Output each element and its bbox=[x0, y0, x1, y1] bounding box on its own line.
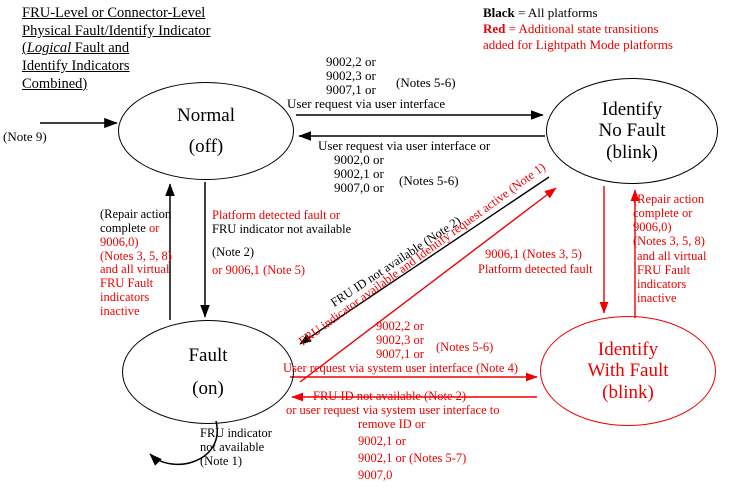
label-identify-withfault-to-fault-l3: remove ID or bbox=[358, 418, 425, 431]
label-fault-to-identify-withfault-l2: 9002,3 or bbox=[376, 334, 424, 347]
label-identify-to-normal-l4: 9007,0 or bbox=[334, 181, 384, 195]
label-normal-to-identify-l1: 9002,2 or bbox=[326, 55, 376, 69]
legend-red-key: Red bbox=[483, 21, 505, 36]
label-fault-to-normal-l2: complete or bbox=[100, 222, 159, 235]
state-identify-with-fault-line-3: (blink) bbox=[602, 382, 654, 403]
label-normal-to-fault-l3: (Note 2) bbox=[212, 246, 254, 259]
legend-red-text-2: added for Lightpath Mode platforms bbox=[483, 37, 673, 53]
label-normal-to-identify-l4: User request via user interface bbox=[287, 97, 445, 111]
label-identify-withfault-to-nofault-l1: (Repair action bbox=[633, 193, 704, 206]
state-fault-label: Fault bbox=[188, 345, 227, 367]
label-identify-nofault-to-withfault-l2: Platform detected fault bbox=[478, 263, 593, 276]
label-normal-to-identify-l2: 9002,3 or bbox=[326, 69, 376, 83]
label-identify-to-normal-l2: 9002,0 or bbox=[334, 153, 384, 167]
title-line-3-italic: Logical bbox=[27, 40, 71, 56]
state-identify-no-fault[interactable]: Identify No Fault (blink) bbox=[546, 78, 718, 184]
label-fault-to-identify-withfault-l4: User request via system user interface (… bbox=[283, 362, 518, 375]
state-identify-no-fault-line-3: (blink) bbox=[606, 142, 658, 163]
label-fault-to-normal-l2-red: or bbox=[149, 221, 159, 235]
label-normal-to-identify-l3: 9007,1 or bbox=[326, 83, 376, 97]
title-line-1: FRU-Level or Connector-Level bbox=[22, 5, 210, 23]
label-fault-to-normal-l1: (Repair action bbox=[100, 208, 171, 221]
label-fault-to-normal-l8: inactive bbox=[100, 305, 140, 318]
label-entry-note: (Note 9) bbox=[3, 130, 47, 144]
label-fault-to-normal-l5: and all virtual bbox=[100, 263, 169, 276]
label-fault-self-loop-l3: (Note 1) bbox=[200, 455, 242, 468]
label-identify-withfault-to-nofault-l4: (Notes 3, 5, 8) bbox=[633, 235, 705, 248]
label-identify-withfault-to-nofault-l7: indicators bbox=[637, 278, 686, 291]
label-fault-self-loop-l2: not available bbox=[200, 441, 264, 454]
label-normal-to-fault-l4: or 9006,1 (Note 5) bbox=[212, 264, 305, 277]
label-identify-withfault-to-nofault-l6: FRU Fault bbox=[637, 264, 690, 277]
label-fault-to-normal-l3: 9006,0) bbox=[100, 236, 139, 249]
label-normal-to-fault-l1: Platform detected fault or bbox=[212, 209, 340, 222]
legend-black-key: Black bbox=[483, 5, 515, 20]
page-title: FRU-Level or Connector-Level Physical Fa… bbox=[22, 5, 210, 93]
label-identify-withfault-to-nofault-l3: 9006,0) bbox=[633, 221, 672, 234]
state-normal-label: Normal bbox=[177, 105, 235, 127]
label-identify-withfault-to-fault-l5: 9002,1 or (Notes 5-7) bbox=[358, 452, 466, 465]
label-identify-withfault-to-fault-l2: or user request via system user interfac… bbox=[286, 404, 499, 417]
label-identify-withfault-to-fault-l6: 9007,0 bbox=[358, 469, 392, 482]
title-line-4: Identify Indicators bbox=[22, 58, 210, 76]
state-diagram: FRU-Level or Connector-Level Physical Fa… bbox=[0, 0, 742, 497]
label-fault-to-identify-withfault-l1: 9002,2 or bbox=[376, 320, 424, 333]
label-fault-to-normal-l2-black: complete bbox=[100, 221, 149, 235]
label-normal-to-identify-notes: (Notes 5-6) bbox=[396, 76, 456, 90]
label-identify-to-normal-notes: (Notes 5-6) bbox=[399, 174, 459, 188]
label-identify-withfault-to-nofault-l2: complete or bbox=[633, 207, 692, 220]
title-line-3: (Logical Fault and bbox=[22, 40, 210, 58]
label-fault-to-normal-l7: indicators bbox=[100, 291, 149, 304]
label-fault-to-normal-l6: FRU Fault bbox=[100, 277, 153, 290]
title-line-2: Physical Fault/Identify Indicator bbox=[22, 23, 210, 41]
state-identify-no-fault-line-2: No Fault bbox=[598, 120, 665, 141]
legend-red-text: = Additional state transitions bbox=[505, 21, 658, 36]
state-normal-sublabel: (off) bbox=[189, 136, 223, 158]
label-normal-to-fault-l2: FRU indicator not available bbox=[212, 223, 351, 236]
legend-black-text: = All platforms bbox=[515, 5, 598, 20]
legend: Black = All platforms Red = Additional s… bbox=[483, 5, 673, 53]
state-fault-sublabel: (on) bbox=[192, 378, 224, 400]
label-identify-to-normal-l3: 9002,1 or bbox=[334, 167, 384, 181]
label-identify-withfault-to-nofault-l8: inactive bbox=[637, 292, 677, 305]
state-identify-with-fault-line-2: With Fault bbox=[587, 360, 668, 381]
label-identify-withfault-to-nofault-l5: and all virtual bbox=[637, 250, 706, 263]
label-identify-withfault-to-fault-l4: 9002,1 or bbox=[358, 435, 406, 448]
state-normal[interactable]: Normal (off) bbox=[118, 82, 294, 180]
title-line-3-rest: Fault and bbox=[71, 40, 129, 56]
label-identify-withfault-to-fault-l1: FRU ID not available (Note 2) bbox=[313, 390, 466, 403]
state-identify-with-fault-line-1: Identify bbox=[598, 339, 658, 360]
state-identify-with-fault[interactable]: Identify With Fault (blink) bbox=[540, 316, 716, 426]
label-identify-to-normal-l1: User request via user interface or bbox=[318, 139, 490, 153]
state-identify-no-fault-line-1: Identify bbox=[602, 99, 662, 120]
legend-black-row: Black = All platforms bbox=[483, 5, 673, 21]
label-identify-nofault-to-withfault-l1: 9006,1 (Notes 3, 5) bbox=[485, 248, 582, 261]
label-fault-to-identify-withfault-l3: 9007,1 or bbox=[376, 348, 424, 361]
label-fault-to-identify-withfault-notes: (Notes 5-6) bbox=[436, 341, 493, 354]
legend-red-row: Red = Additional state transitions bbox=[483, 21, 673, 37]
state-fault[interactable]: Fault (on) bbox=[122, 320, 294, 424]
label-fault-self-loop-l1: FRU indicator bbox=[200, 427, 272, 440]
